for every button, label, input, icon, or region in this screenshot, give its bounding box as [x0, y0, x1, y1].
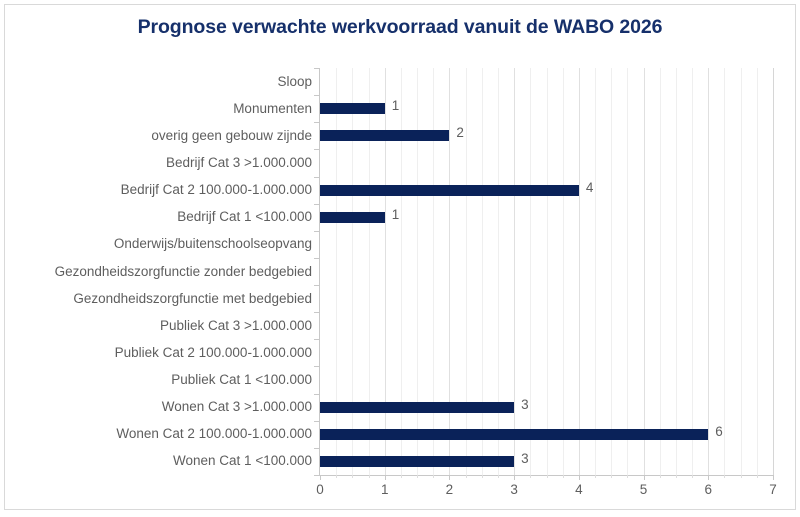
bar-row: 1: [320, 204, 773, 231]
y-axis-tick: [314, 448, 320, 449]
x-axis-tick-minor: [547, 475, 548, 478]
y-axis-category-label: Bedrijf Cat 3 >1.000.000: [166, 155, 312, 171]
y-axis-tick: [314, 394, 320, 395]
chart-title: Prognose verwachte werkvoorraad vanuit d…: [0, 16, 800, 39]
y-axis-tick: [314, 258, 320, 259]
x-axis-ticks: [320, 475, 773, 480]
x-axis-tick-minor: [369, 475, 370, 478]
bar-row: [320, 258, 773, 285]
chart-container: Prognose verwachte werkvoorraad vanuit d…: [0, 0, 800, 517]
x-axis-tick-minor: [741, 475, 742, 478]
bar-row: 6: [320, 421, 773, 448]
y-axis-tick: [314, 339, 320, 340]
y-axis-category-label: Wonen Cat 1 <100.000: [173, 453, 312, 469]
x-axis-tick-minor: [352, 475, 353, 478]
x-axis-tick-minor: [466, 475, 467, 478]
x-axis-tick-minor: [563, 475, 564, 478]
bar-row: [320, 366, 773, 393]
y-axis-tick: [314, 475, 320, 476]
bar-row: [320, 312, 773, 339]
bar-row: 4: [320, 177, 773, 204]
x-axis-tick-minor: [724, 475, 725, 478]
bar-value-label: 3: [521, 397, 529, 412]
bar-row: [320, 285, 773, 312]
bar-row: [320, 339, 773, 366]
x-axis-tick-major: [579, 475, 580, 480]
bar-row: [320, 68, 773, 95]
x-axis-tick-major: [320, 475, 321, 480]
x-axis-tick-label: 3: [510, 482, 518, 497]
y-axis-tick: [314, 312, 320, 313]
bar[interactable]: [320, 185, 579, 196]
y-axis-category-label: Publiek Cat 2 100.000-1.000.000: [115, 345, 312, 361]
y-axis-tick: [314, 122, 320, 123]
y-axis-tick: [314, 95, 320, 96]
bar[interactable]: [320, 456, 514, 467]
y-axis-tick: [314, 421, 320, 422]
x-axis-tick-major: [449, 475, 450, 480]
bar[interactable]: [320, 402, 514, 413]
x-axis-tick-labels: 01234567: [320, 482, 773, 502]
x-axis-tick-label: 7: [769, 482, 777, 497]
bar-value-label: 3: [521, 451, 529, 466]
y-axis-category-labels: SloopMonumentenoverig geen gebouw zijnde…: [8, 68, 312, 475]
bar-value-label: 1: [392, 98, 400, 113]
x-axis-tick-label: 2: [446, 482, 454, 497]
x-axis-tick-minor: [417, 475, 418, 478]
x-axis-tick-minor: [498, 475, 499, 478]
bar-row: 2: [320, 122, 773, 149]
x-axis-tick-label: 0: [316, 482, 324, 497]
x-axis-tick-minor: [660, 475, 661, 478]
bar-value-label: 1: [392, 207, 400, 222]
x-axis-tick-minor: [611, 475, 612, 478]
y-axis-category-label: Publiek Cat 1 <100.000: [171, 372, 312, 388]
y-axis-category-label: Wonen Cat 2 100.000-1.000.000: [116, 426, 312, 442]
y-axis-category-label: Publiek Cat 3 >1.000.000: [160, 318, 312, 334]
x-axis-tick-label: 6: [705, 482, 713, 497]
y-axis-category-label: Wonen Cat 3 >1.000.000: [162, 399, 312, 415]
y-axis-category-label: Bedrijf Cat 1 <100.000: [177, 209, 312, 225]
bar-value-label: 2: [456, 125, 464, 140]
x-axis-tick-minor: [401, 475, 402, 478]
x-axis-tick-minor: [757, 475, 758, 478]
bar-row: [320, 231, 773, 258]
bar[interactable]: [320, 429, 708, 440]
bar-row: 3: [320, 394, 773, 421]
x-axis-tick-minor: [482, 475, 483, 478]
bar-value-label: 6: [715, 424, 723, 439]
y-axis-category-label: overig geen gebouw zijnde: [151, 128, 312, 144]
bar[interactable]: [320, 103, 385, 114]
x-axis-tick-label: 4: [575, 482, 583, 497]
x-axis-tick-minor: [433, 475, 434, 478]
y-axis-category-label: Gezondheidszorgfunctie zonder bedgebied: [55, 264, 312, 280]
y-axis-category-label: Bedrijf Cat 2 100.000-1.000.000: [121, 182, 312, 198]
x-axis-tick-label: 5: [640, 482, 648, 497]
bar[interactable]: [320, 130, 449, 141]
bar-rows: 1241363: [320, 68, 773, 475]
bar-row: 1: [320, 95, 773, 122]
x-axis-tick-minor: [595, 475, 596, 478]
y-axis-tick: [314, 204, 320, 205]
y-axis-tick: [314, 285, 320, 286]
x-axis-tick-major: [385, 475, 386, 480]
y-axis-tick: [314, 177, 320, 178]
x-axis-tick-major: [644, 475, 645, 480]
bar-row: 3: [320, 448, 773, 475]
y-axis-category-label: Sloop: [277, 74, 312, 90]
y-axis-tick: [314, 68, 320, 69]
y-axis-category-label: Monumenten: [233, 101, 312, 117]
x-axis-tick-label: 1: [381, 482, 389, 497]
x-axis-tick-minor: [336, 475, 337, 478]
y-axis-category-label: Gezondheidszorgfunctie met bedgebied: [73, 291, 312, 307]
x-axis-tick-minor: [692, 475, 693, 478]
y-axis-category-label: Onderwijs/buitenschoolseopvang: [114, 236, 312, 252]
bar-row: [320, 149, 773, 176]
y-axis-tick: [314, 149, 320, 150]
x-axis-tick-minor: [627, 475, 628, 478]
y-axis-tick: [314, 366, 320, 367]
y-axis-tick: [314, 231, 320, 232]
x-axis-tick-minor: [676, 475, 677, 478]
bar-value-label: 4: [586, 180, 594, 195]
plot-area: 1241363: [320, 68, 773, 475]
x-axis-tick-minor: [530, 475, 531, 478]
x-axis-tick-major: [773, 475, 774, 480]
x-axis-tick-major: [708, 475, 709, 480]
x-axis-tick-major: [514, 475, 515, 480]
bar[interactable]: [320, 212, 385, 223]
